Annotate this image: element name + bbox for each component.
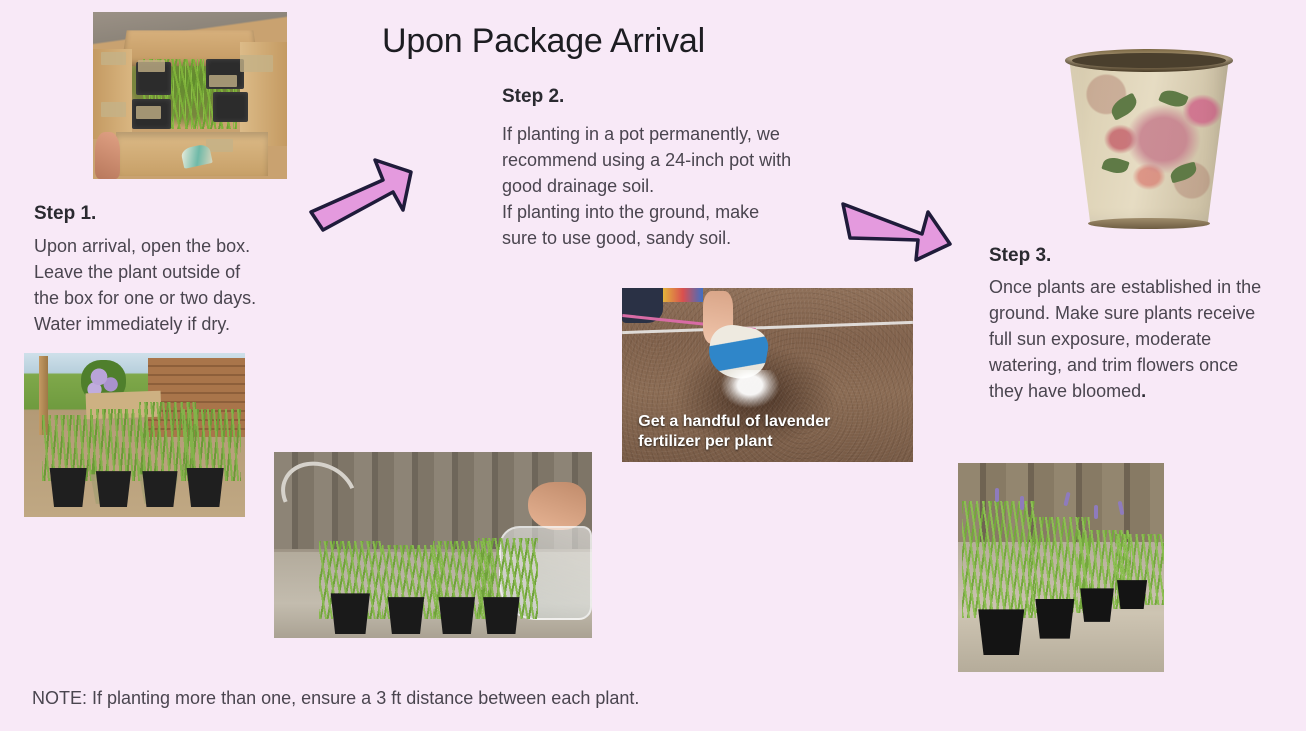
step-3-body: Once plants are established in the groun…: [989, 274, 1289, 404]
note-text: NOTE: If planting more than one, ensure …: [32, 688, 639, 709]
photo-watering-plants: [274, 452, 592, 638]
step-1-heading: Step 1.: [34, 203, 96, 225]
photo-vintage-floral-pot: [1060, 42, 1238, 229]
photo-fertilizer-on-soil: Get a handful of lavender fertilizer per…: [622, 288, 913, 462]
slide-canvas: Upon Package Arrival Step 1. Upon arriva…: [0, 0, 1306, 731]
photo-watering-plants-image: [274, 452, 592, 638]
arrow-down-right-icon: [838, 190, 956, 272]
step-2-body: If planting in a pot permanently, we rec…: [502, 121, 842, 251]
arrow-step1-to-step2: [305, 150, 417, 242]
page-title: Upon Package Arrival: [382, 22, 705, 61]
photo-potted-plants-outdoors-image: [24, 353, 245, 517]
step-3-body-period: .: [1141, 381, 1146, 401]
step-3-body-text: Once plants are established in the groun…: [989, 277, 1261, 401]
step-1-body: Upon arrival, open the box. Leave the pl…: [34, 233, 324, 337]
photo-established-lavender-image: [958, 463, 1164, 672]
photo-established-lavender: [958, 463, 1164, 672]
photo-box-of-plants: [93, 12, 287, 179]
fertilizer-caption: Get a handful of lavender fertilizer per…: [638, 412, 830, 452]
arrow-up-right-icon: [305, 150, 417, 242]
step-3-heading: Step 3.: [989, 245, 1051, 267]
photo-box-of-plants-image: [93, 12, 287, 179]
step-2-heading: Step 2.: [502, 86, 564, 108]
photo-potted-plants-outdoors: [24, 353, 245, 517]
arrow-step2-to-step3: [838, 190, 956, 272]
